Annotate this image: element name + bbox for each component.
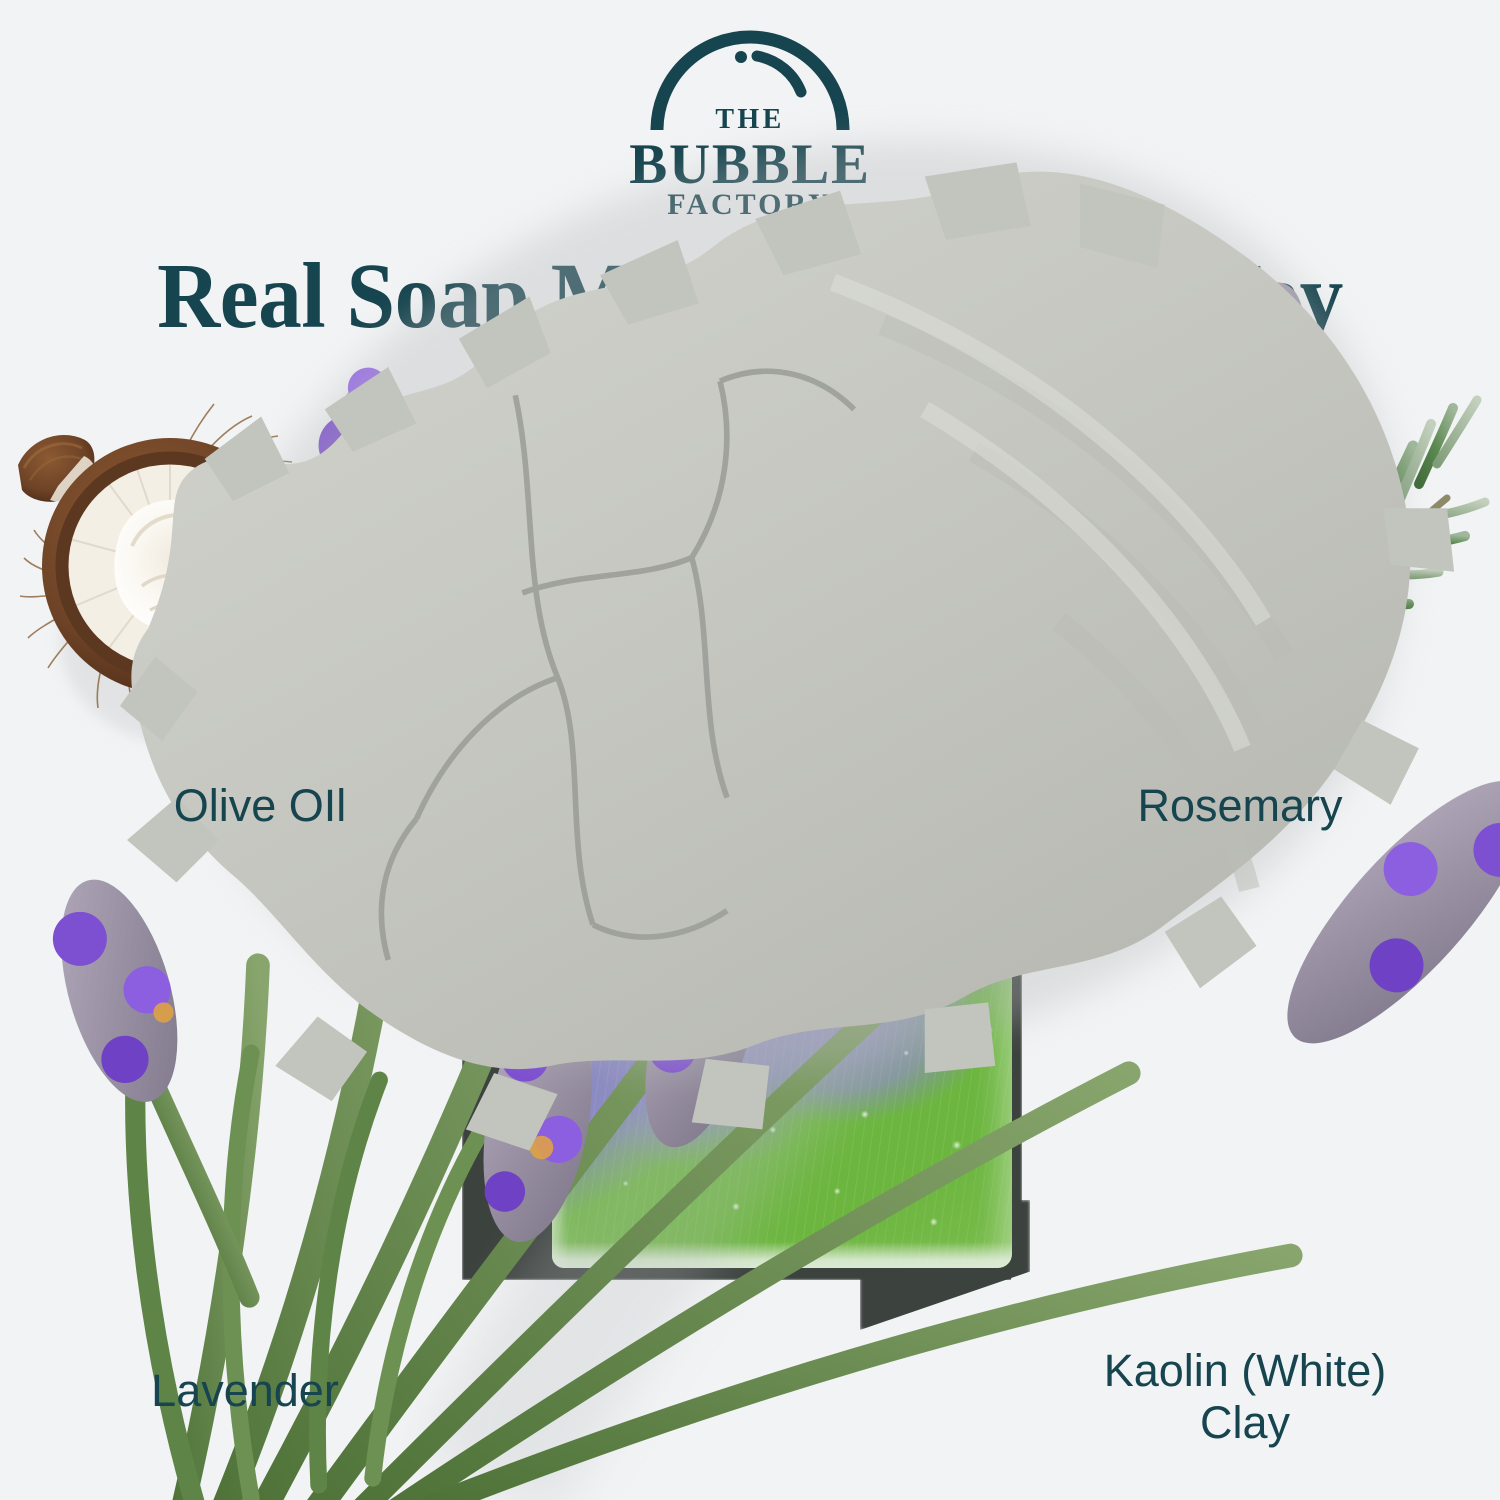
kaolin-clay-swatch-image [0, 0, 1500, 1200]
ingredient-label-olive-oil: Olive OIl [40, 780, 480, 832]
ingredient-label-kaolin-clay: Kaolin (White) Clay [1010, 1345, 1480, 1449]
ingredient-label-lavender: Lavender [30, 1365, 460, 1417]
product-infographic: THE BUBBLE FACTORY Real Soap Made The Ri… [0, 0, 1500, 1500]
ingredient-label-rosemary: Rosemary [1020, 780, 1460, 832]
